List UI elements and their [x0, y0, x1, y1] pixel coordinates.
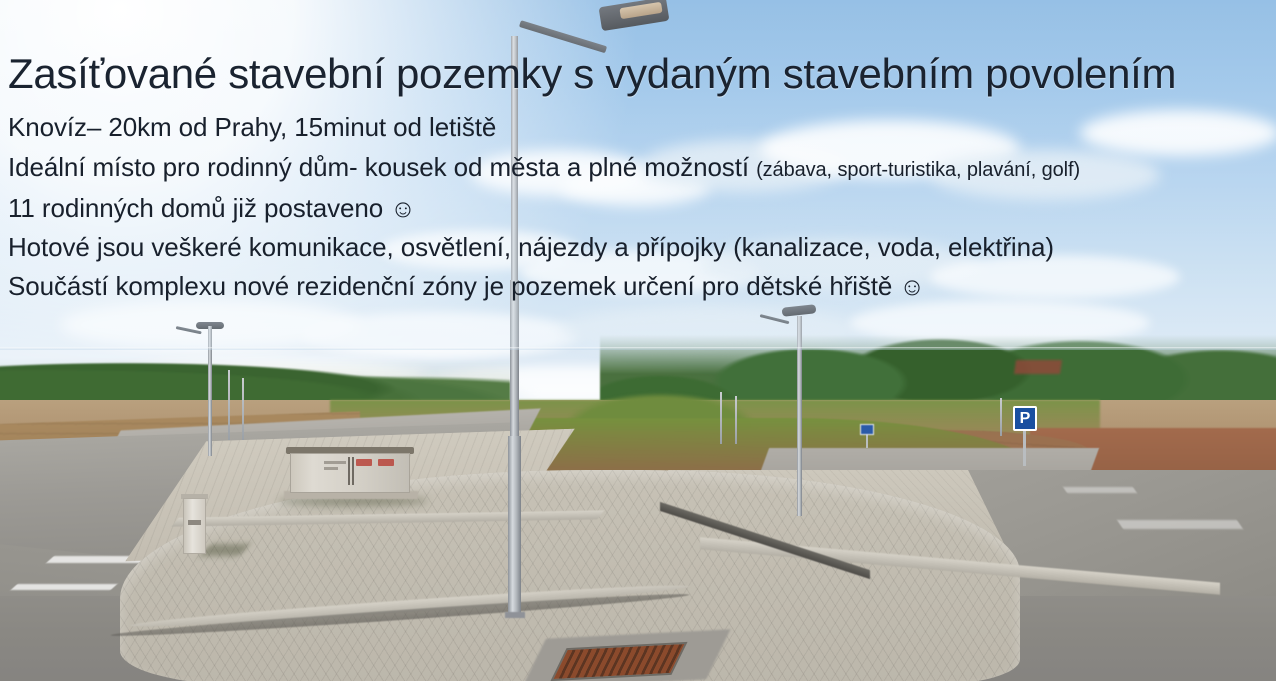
distant-pole [1000, 398, 1002, 436]
distant-blue-sign-icon [860, 424, 874, 435]
warning-label-icon [356, 459, 372, 466]
bullet-line-2: Ideální místo pro rodinný dům- kousek od… [8, 152, 1080, 183]
drain-grate-icon [550, 642, 687, 681]
transformer-box [290, 447, 410, 495]
bullet-line-3: 11 rodinných domů již postaveno ☺ [8, 193, 416, 224]
bullet-line-4-main: Hotové jsou veškeré komunikace, osvětlen… [8, 232, 1054, 262]
bullet-line-3-smiley: ☺ [390, 195, 415, 223]
streetlamp-pole [208, 326, 212, 456]
bullet-line-1-main: Knovíz– 20km od Prahy, 15minut od letišt… [8, 112, 496, 142]
road-marking [11, 584, 118, 590]
bullet-line-3-main: 11 rodinných domů již postaveno [8, 193, 390, 223]
bullet-line-2-small: (zábava, sport-turistika, plavání, golf) [756, 159, 1080, 181]
distant-pole [242, 378, 244, 440]
photo-seam [0, 347, 1276, 350]
box-text-mark [324, 461, 346, 464]
streetlamp-pole-base [508, 436, 521, 616]
cloud [300, 312, 580, 358]
road-marking [1063, 487, 1137, 493]
streetlamp-pole [797, 316, 802, 516]
box-door-seam [352, 457, 354, 485]
bullet-line-5: Součástí komplexu nové rezidenční zóny j… [8, 271, 925, 302]
bullet-line-4: Hotové jsou veškeré komunikace, osvětlen… [8, 232, 1054, 263]
pillar-slot [188, 520, 201, 525]
parking-sign-pole [1023, 430, 1026, 466]
property-photo: P [0, 0, 1276, 681]
distant-sign-pole [866, 434, 868, 448]
box-door-seam [348, 457, 350, 485]
distant-pole [228, 370, 230, 440]
box-text-mark [324, 467, 338, 470]
utility-pillar [183, 498, 206, 554]
distant-pole [735, 396, 737, 444]
bullet-line-5-main: Součástí komplexu nové rezidenční zóny j… [8, 271, 899, 301]
streetlamp-pole [510, 280, 519, 440]
bullet-line-5-smiley: ☺ [899, 273, 924, 301]
road-marking [1117, 520, 1243, 529]
page-title: Zasíťované stavební pozemky s vydaným st… [8, 50, 1176, 98]
advertisement-slide: P Zasíťované stavební pozemky s vydaným … [0, 0, 1276, 681]
bullet-line-2-main: Ideální místo pro rodinný dům- kousek od… [8, 152, 756, 182]
distant-pole [720, 392, 722, 444]
streetlamp-foot [505, 612, 525, 618]
cloud [1080, 110, 1276, 156]
warning-label-icon [378, 459, 394, 466]
bullet-line-1: Knovíz– 20km od Prahy, 15minut od letišt… [8, 112, 496, 143]
distant-roof [1014, 360, 1062, 374]
parking-sign-icon: P [1013, 406, 1037, 431]
